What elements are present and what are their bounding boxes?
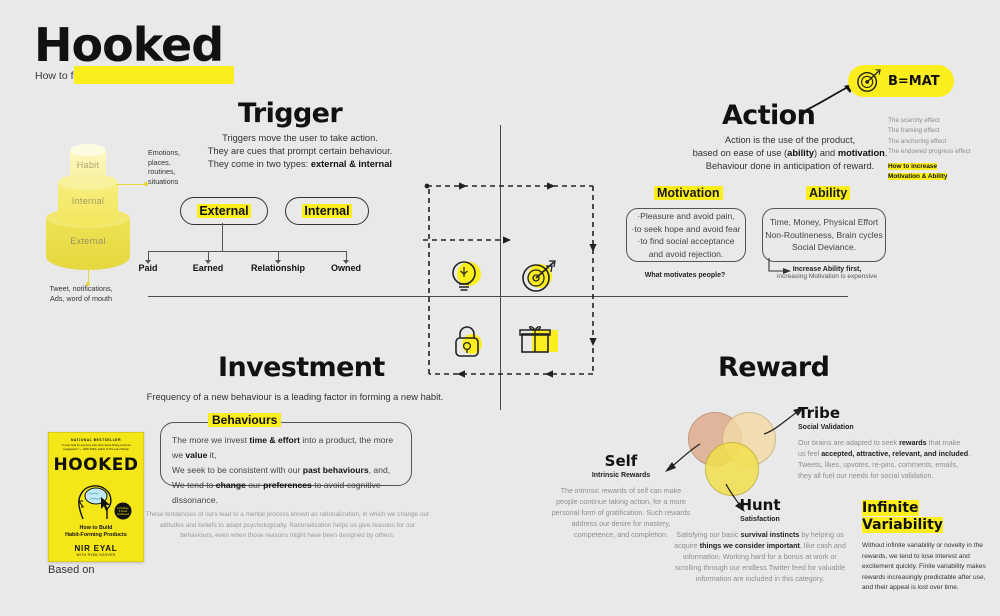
effect-item: The framing effect bbox=[888, 126, 988, 136]
investment-description: Frequency of a new behaviour is a leadin… bbox=[135, 392, 455, 402]
ability-caption-bold: Increase Ability first, bbox=[752, 266, 902, 273]
gift-icon bbox=[518, 322, 562, 360]
trigger-description: Triggers move the user to take action. T… bbox=[180, 132, 420, 171]
hunt-heading: Hunt bbox=[660, 496, 860, 514]
section-title-investment: Investment bbox=[218, 352, 385, 383]
book-cover[interactable]: NATIONAL BESTSELLER "A must-read for eve… bbox=[48, 432, 144, 562]
head-brain-icon: Including: 6 bonus worksheets bbox=[49, 475, 143, 521]
ability-line: Non-Routineness, Brain cycles bbox=[765, 229, 883, 242]
action-desc-motivation: motivation bbox=[838, 148, 885, 158]
effect-item: The scarcity effect bbox=[888, 116, 988, 126]
effects-highlight-line2: Motivation & Ability bbox=[888, 172, 988, 182]
trigger-desc-line2: They are cues that prompt certain behavi… bbox=[180, 145, 420, 158]
hunt-paragraph: Satisfying our basic survival instincts … bbox=[660, 529, 860, 584]
book-subtitle-2: Habit-Forming Products bbox=[49, 532, 143, 538]
tree-bar bbox=[148, 251, 346, 252]
svg-text:worksheets: worksheets bbox=[117, 513, 130, 516]
pill-external[interactable]: External bbox=[180, 197, 268, 225]
trigger-desc-line1: Triggers move the user to take action. bbox=[180, 132, 420, 145]
infinite-variability-paragraph: Without infinite variability or novelty … bbox=[862, 541, 990, 594]
tree-stem bbox=[222, 223, 223, 251]
page-title: Hooked bbox=[34, 22, 223, 68]
section-title-reward: Reward bbox=[718, 352, 829, 383]
behaviours-title: Behaviours bbox=[208, 413, 281, 427]
ability-caption: Increase Ability first, increasing Motiv… bbox=[752, 266, 902, 280]
motivation-line: and avoid rejection. bbox=[632, 248, 741, 261]
effects-highlight-line1: How to increase bbox=[888, 162, 988, 172]
self-heading: Self bbox=[550, 452, 692, 470]
book-author: NIR EYAL bbox=[49, 544, 143, 553]
behaviour-line: We seek to be consistent with our past b… bbox=[172, 463, 400, 478]
motivation-title: Motivation bbox=[654, 186, 723, 200]
ability-caption-sub: increasing Motivation is expensive bbox=[752, 273, 902, 280]
target-icon bbox=[518, 256, 560, 296]
infinite-title-line1: Infinite bbox=[862, 500, 919, 516]
action-desc-ability: ability bbox=[787, 148, 814, 158]
infinite-variability-block: Infinite Variability Without infinite va… bbox=[862, 500, 990, 594]
pill-internal[interactable]: Internal bbox=[285, 197, 369, 225]
book-badge: NATIONAL BESTSELLER bbox=[49, 438, 143, 442]
book-blurb: "A must-read for everyone who cares abou… bbox=[49, 444, 143, 451]
trigger-desc-line3-pre: They come in two types: bbox=[208, 159, 311, 169]
ability-box: Time, Money, Physical Effort Non-Routine… bbox=[762, 208, 886, 262]
ability-line: Time, Money, Physical Effort bbox=[765, 216, 883, 229]
padlock-icon bbox=[452, 322, 488, 360]
trigger-desc-line3: They come in two types: external & inter… bbox=[180, 158, 420, 171]
behaviours-block: Behaviours The more we invest time & eff… bbox=[160, 422, 410, 484]
motivation-line: ·to seek hope and avoid fear bbox=[632, 223, 741, 236]
effects-list: The scarcity effect The framing effect T… bbox=[888, 116, 988, 182]
book-subtitle-1: How to Build bbox=[49, 525, 143, 531]
infographic-poster: Hooked How to form habit forming product… bbox=[0, 0, 1000, 616]
funnel-label-internal: Internal bbox=[58, 196, 118, 206]
lightbulb-icon bbox=[448, 258, 486, 298]
effect-item: The anchoring effect bbox=[888, 137, 988, 147]
leaf-earned: Earned bbox=[185, 263, 231, 273]
infinite-title-line2: Variability bbox=[862, 517, 943, 533]
hunt-block: Hunt Satisfaction Satisfying our basic s… bbox=[660, 496, 860, 584]
action-description: Action is the use of the product, based … bbox=[660, 134, 920, 173]
motivation-heading: Motivation bbox=[654, 186, 723, 200]
pill-external-label: External bbox=[197, 204, 250, 218]
title-block: Hooked bbox=[34, 22, 223, 68]
behaviour-line: We tend to change our preferences to avo… bbox=[172, 478, 400, 508]
tribe-subtitle: Social Validation bbox=[798, 424, 990, 431]
action-desc-line1: Action is the use of the product, bbox=[660, 134, 920, 147]
action-desc-line2: based on ease of use (ability) and motiv… bbox=[660, 147, 920, 160]
hunt-subtitle: Satisfaction bbox=[660, 516, 860, 523]
hook-cycle-arrows bbox=[415, 178, 615, 398]
self-subtitle: Intrinsic Rewards bbox=[550, 472, 692, 479]
tribe-heading: Tribe bbox=[798, 404, 990, 422]
action-desc-line3: Behaviour done in anticipation of reward… bbox=[660, 160, 920, 173]
leaf-paid: Paid bbox=[128, 263, 168, 273]
ability-line: Social Deviance. bbox=[765, 241, 883, 254]
ability-heading: Ability bbox=[806, 186, 850, 200]
infinite-variability-title: Infinite Variability bbox=[862, 500, 990, 534]
motivation-box: ·Pleasure and avoid pain, ·to seek hope … bbox=[626, 208, 746, 262]
rationalization-paragraph: These tendencies of ours lead to a menta… bbox=[145, 510, 430, 542]
based-on-caption: Based on bbox=[48, 564, 94, 576]
ability-title: Ability bbox=[806, 186, 850, 200]
funnel-annotation-bottom: Tweet, notifications, Ads, word of mouth bbox=[26, 284, 136, 303]
funnel-label-habit: Habit bbox=[70, 160, 106, 170]
tribe-block: Tribe Social Validation Our brains are a… bbox=[798, 404, 990, 481]
funnel-connector-top bbox=[116, 184, 146, 185]
bmat-badge[interactable]: B=MAT bbox=[848, 65, 954, 97]
motivation-line: ·to find social acceptance bbox=[632, 235, 741, 248]
leaf-relationship: Relationship bbox=[243, 263, 313, 273]
book-author-sub: WITH RYAN HOOVER bbox=[49, 553, 143, 557]
section-title-action: Action bbox=[722, 100, 815, 131]
action-desc-line2-pre: based on ease of use ( bbox=[693, 148, 788, 158]
motivation-line: ·Pleasure and avoid pain, bbox=[632, 210, 741, 223]
action-desc-line2-mid: ) and bbox=[814, 148, 838, 158]
target-icon bbox=[856, 68, 882, 94]
section-title-trigger: Trigger bbox=[238, 98, 342, 129]
behaviour-line: The more we invest time & effort into a … bbox=[172, 433, 400, 463]
effect-item: The endowed progress effect bbox=[888, 147, 988, 157]
leaf-owned: Owned bbox=[323, 263, 369, 273]
habit-funnel-diagram: External Internal Habit bbox=[38, 138, 158, 278]
tribe-paragraph: Our brains are adapted to seek rewards t… bbox=[798, 437, 990, 481]
book-title: HOOKED bbox=[49, 455, 143, 475]
pill-internal-label: Internal bbox=[302, 204, 351, 218]
funnel-tier-habit: Habit bbox=[70, 144, 106, 186]
motivation-caption: What motivates people? bbox=[626, 272, 744, 279]
trigger-desc-line3-bold: external & internal bbox=[311, 159, 392, 169]
funnel-label-external: External bbox=[46, 236, 130, 246]
bmat-label: B=MAT bbox=[888, 74, 940, 89]
